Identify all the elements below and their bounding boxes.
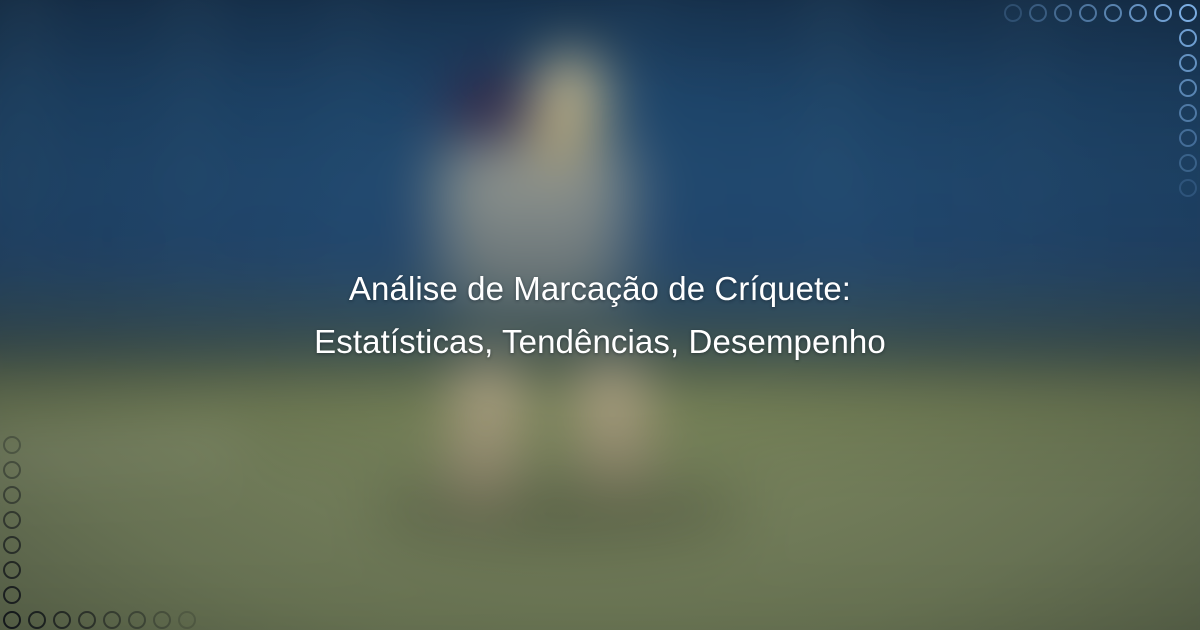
decor-dot (3, 511, 21, 529)
decor-dot (178, 611, 196, 629)
page-title-line-2: Estatísticas, Tendências, Desempenho (160, 315, 1040, 368)
decor-dot (3, 436, 21, 454)
decor-dot (3, 611, 21, 629)
page-title: Análise de Marcação de Críquete: Estatís… (160, 262, 1040, 369)
decor-dot (3, 486, 21, 504)
decor-dot (153, 611, 171, 629)
decor-dot (103, 611, 121, 629)
title-card: Análise de Marcação de Críquete: Estatís… (100, 200, 1100, 430)
decor-dot (3, 536, 21, 554)
decor-dot (78, 611, 96, 629)
page-title-line-1: Análise de Marcação de Críquete: (160, 262, 1040, 315)
banner-root: Análise de Marcação de Críquete: Estatís… (0, 0, 1200, 630)
decor-dot (28, 611, 46, 629)
decor-dot (3, 586, 21, 604)
decor-dot (3, 461, 21, 479)
decor-dot (128, 611, 146, 629)
decor-dot (3, 561, 21, 579)
decor-dot (53, 611, 71, 629)
